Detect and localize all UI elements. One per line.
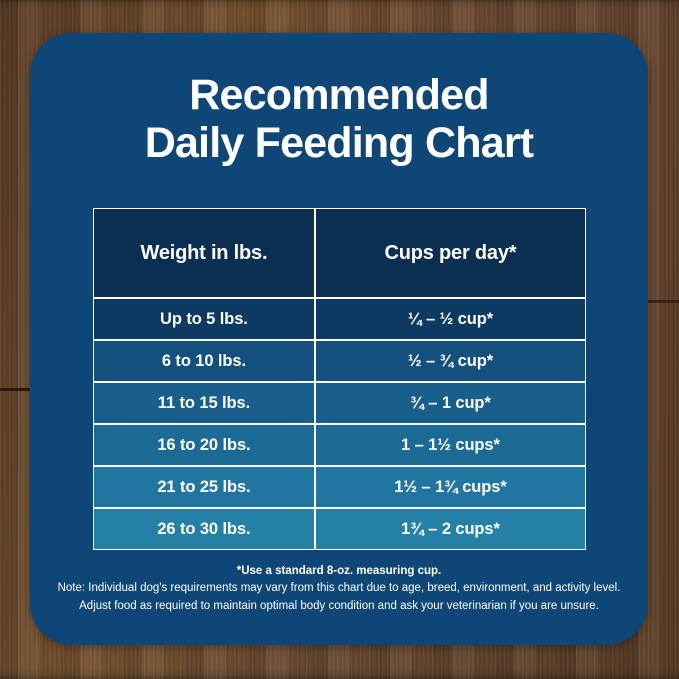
cell-cups: 1 – 1½ cups*: [315, 424, 586, 466]
page-title-line-2: Daily Feeding Chart: [58, 119, 620, 167]
column-header-cups: Cups per day*: [315, 208, 586, 298]
cell-weight: 6 to 10 lbs.: [93, 340, 315, 382]
table-row: 26 to 30 lbs.1¾ – 2 cups*: [93, 508, 586, 550]
cell-cups: 1¾ – 2 cups*: [315, 508, 586, 550]
wood-plank-seam-right: [646, 300, 679, 303]
cell-cups: ½ – ¾ cup*: [315, 340, 586, 382]
table-row: 6 to 10 lbs.½ – ¾ cup*: [93, 340, 586, 382]
table-row: 16 to 20 lbs.1 – 1½ cups*: [93, 424, 586, 466]
table-header: Weight in lbs. Cups per day*: [93, 208, 586, 298]
page-title-line-1: Recommended: [58, 71, 620, 119]
feeding-chart-card: Recommended Daily Feeding Chart Weight i…: [30, 33, 648, 645]
table-row: 21 to 25 lbs.1½ – 1¾ cups*: [93, 466, 586, 508]
cell-cups: 1½ – 1¾ cups*: [315, 466, 586, 508]
cell-cups: ¾ – 1 cup*: [315, 382, 586, 424]
cell-weight: 21 to 25 lbs.: [93, 466, 315, 508]
table-row: Up to 5 lbs.¼ – ½ cup*: [93, 298, 586, 340]
footnotes: *Use a standard 8-oz. measuring cup. Not…: [30, 563, 648, 615]
table-header-row: Weight in lbs. Cups per day*: [93, 208, 586, 298]
footnote-note-line: Note: Individual dog's requirements may …: [48, 580, 630, 597]
footnote-adjust-line: Adjust food as required to maintain opti…: [48, 598, 630, 615]
cell-weight: 16 to 20 lbs.: [93, 424, 315, 466]
table-row: 11 to 15 lbs.¾ – 1 cup*: [93, 382, 586, 424]
cell-weight: 11 to 15 lbs.: [93, 382, 315, 424]
footnote-measuring-cup: *Use a standard 8-oz. measuring cup.: [48, 563, 630, 580]
table-body: Up to 5 lbs.¼ – ½ cup*6 to 10 lbs.½ – ¾ …: [93, 298, 586, 550]
cell-weight: 26 to 30 lbs.: [93, 508, 315, 550]
wood-plank-seam-left: [0, 388, 32, 391]
page-title: Recommended Daily Feeding Chart: [30, 71, 648, 167]
feeding-chart-table: Weight in lbs. Cups per day* Up to 5 lbs…: [93, 208, 586, 550]
cell-weight: Up to 5 lbs.: [93, 298, 315, 340]
cell-cups: ¼ – ½ cup*: [315, 298, 586, 340]
column-header-weight: Weight in lbs.: [93, 208, 315, 298]
